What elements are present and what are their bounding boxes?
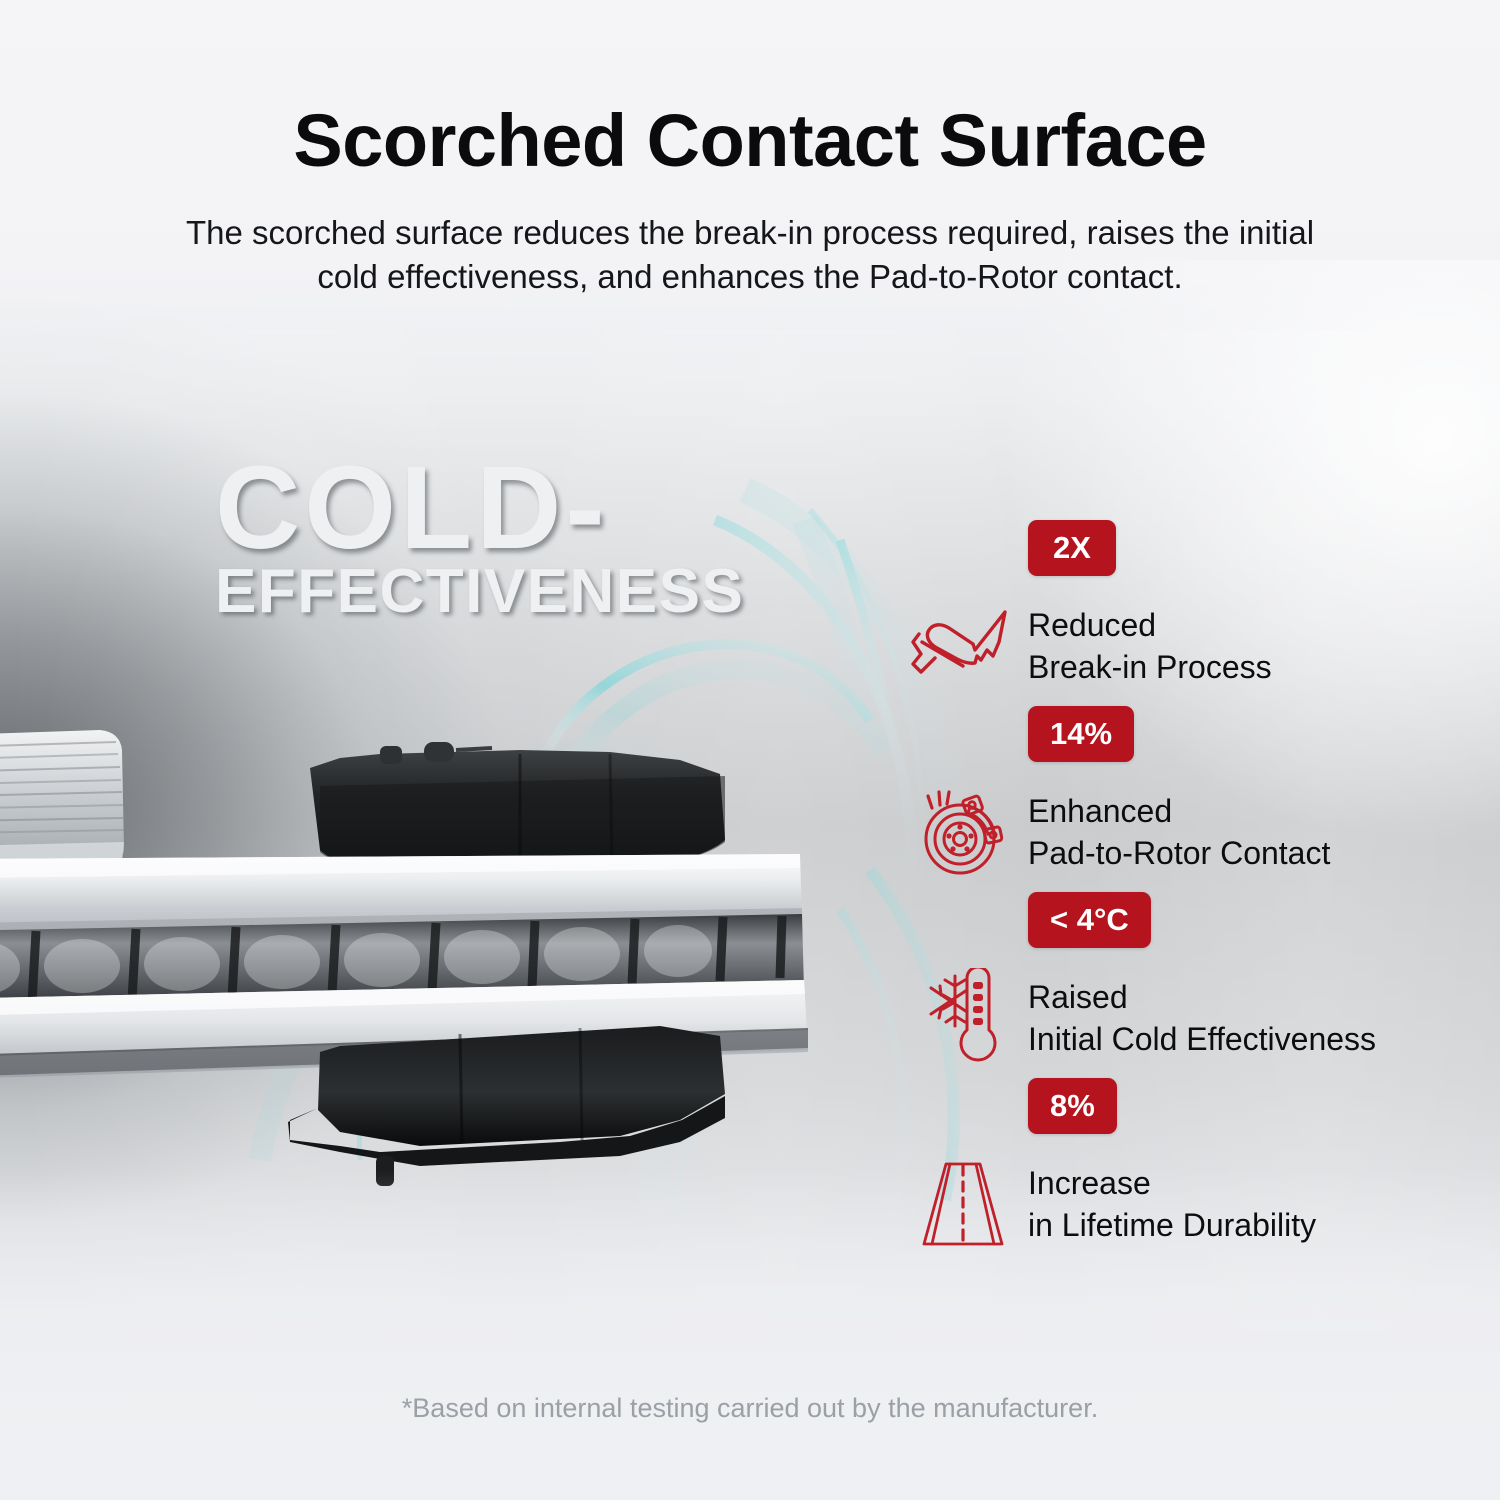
page-title: Scorched Contact Surface	[0, 0, 1500, 178]
badge-less-than-4c: < 4°C	[1028, 892, 1151, 948]
feature-list: 2X Reduced Break-in Process 14%	[900, 520, 1460, 1264]
feature-item-lifetime-durability: 8% Increase in Lifetime D	[900, 1078, 1460, 1264]
feature-item-enhanced-contact: 14%	[900, 706, 1460, 892]
badge-2x: 2X	[1028, 520, 1116, 576]
rotor-lower-hub	[288, 1026, 725, 1186]
race-track-icon	[908, 594, 1018, 698]
brake-rotor-caliper-icon	[908, 780, 1018, 884]
page-subtitle: The scorched surface reduces the break-i…	[70, 178, 1430, 299]
feature-text-3: Raised Initial Cold Effectiveness	[1028, 977, 1376, 1060]
product-feature-banner: Scorched Contact Surface The scorched su…	[0, 0, 1500, 1500]
thermometer-snowflake-icon	[908, 966, 1018, 1070]
badge-14-percent: 14%	[1028, 706, 1134, 762]
badge-8-percent: 8%	[1028, 1078, 1117, 1134]
feature-2-line-2: Pad-to-Rotor Contact	[1028, 833, 1330, 875]
feature-text-2: Enhanced Pad-to-Rotor Contact	[1028, 791, 1330, 874]
feature-3-line-2: Initial Cold Effectiveness	[1028, 1019, 1376, 1061]
footnote-disclaimer: *Based on internal testing carried out b…	[0, 1393, 1500, 1424]
feature-2-line-1: Enhanced	[1028, 791, 1330, 833]
feature-3-line-1: Raised	[1028, 977, 1376, 1019]
feature-item-reduced-break-in: 2X Reduced Break-in Process	[900, 520, 1460, 706]
feature-1-line-2: Break-in Process	[1028, 647, 1272, 689]
rotor-hat	[0, 730, 124, 880]
product-image-brake-rotor	[0, 690, 830, 1190]
feature-item-raised-cold-effectiveness: < 4°C	[900, 892, 1460, 1078]
subtitle-line-1: The scorched surface reduces the break-i…	[70, 211, 1430, 255]
feature-1-line-1: Reduced	[1028, 605, 1272, 647]
header: Scorched Contact Surface The scorched su…	[0, 0, 1500, 299]
feature-4-line-1: Increase	[1028, 1163, 1316, 1205]
feature-text-1: Reduced Break-in Process	[1028, 605, 1272, 688]
headline-line-1: COLD-	[215, 452, 835, 565]
feature-4-line-2: in Lifetime Durability	[1028, 1205, 1316, 1247]
headline-line-2: EFFECTIVENESS	[215, 561, 835, 623]
cold-effectiveness-headline: COLD- EFFECTIVENESS	[215, 452, 835, 623]
road-icon	[908, 1152, 1018, 1256]
feature-text-4: Increase in Lifetime Durability	[1028, 1163, 1316, 1246]
subtitle-line-2: cold effectiveness, and enhances the Pad…	[70, 255, 1430, 299]
